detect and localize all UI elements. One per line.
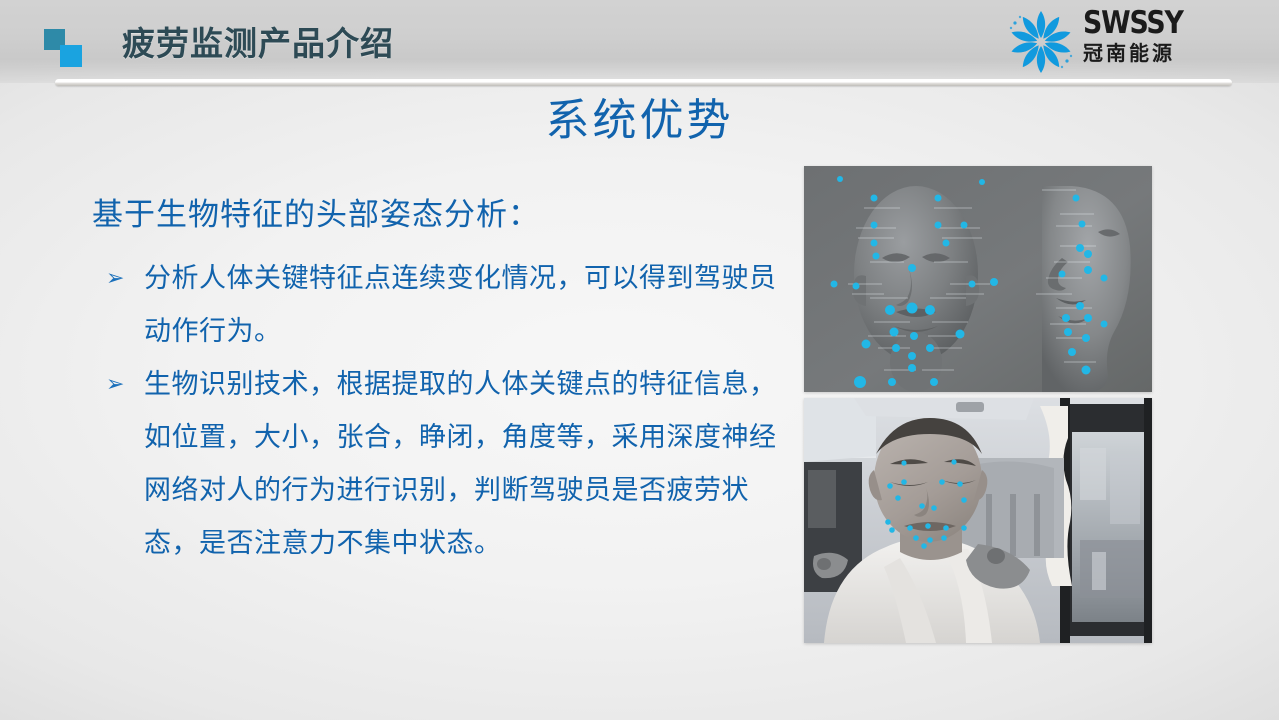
- header-divider-rule: [55, 79, 1232, 86]
- decorative-square-light-icon: [60, 45, 82, 67]
- bullet-item-2-text: 生物识别技术，根据提取的人体关键点的特征信息，如位置，大小，张合，睁闭，角度等，…: [144, 369, 777, 559]
- water-droplet-flower-logo-icon: [1005, 6, 1077, 76]
- slide-body-content: 基于生物特征的头部姿态分析： ➢ 分析人体关键特征点连续变化情况，可以得到驾驶员…: [92, 192, 782, 570]
- company-logo: SWSSY 冠南能源: [1005, 4, 1257, 78]
- presentation-slide: 疲劳监测产品介绍: [0, 0, 1279, 720]
- bullet-arrow-icon: ➢: [106, 358, 125, 411]
- section-lead-text: 基于生物特征的头部姿态分析：: [92, 192, 782, 238]
- logo-brand-name: SWSSY: [1083, 6, 1248, 40]
- slide-title: 系统优势: [0, 92, 1279, 150]
- face-landmark-model-image: [804, 166, 1152, 392]
- logo-company-name-cn: 冠南能源: [1083, 41, 1255, 65]
- bullet-item-1: ➢ 分析人体关键特征点连续变化情况，可以得到驾驶员动作行为。: [92, 252, 782, 358]
- driver-fatigue-detection-image: [804, 398, 1152, 643]
- bullet-list: ➢ 分析人体关键特征点连续变化情况，可以得到驾驶员动作行为。 ➢ 生物识别技术，…: [92, 252, 782, 570]
- bullet-item-1-text: 分析人体关键特征点连续变化情况，可以得到驾驶员动作行为。: [144, 263, 777, 347]
- bullet-arrow-icon: ➢: [106, 252, 125, 305]
- header-title: 疲劳监测产品介绍: [122, 22, 394, 66]
- bullet-item-2: ➢ 生物识别技术，根据提取的人体关键点的特征信息，如位置，大小，张合，睁闭，角度…: [92, 358, 782, 570]
- logo-text-block: SWSSY 冠南能源: [1083, 6, 1255, 65]
